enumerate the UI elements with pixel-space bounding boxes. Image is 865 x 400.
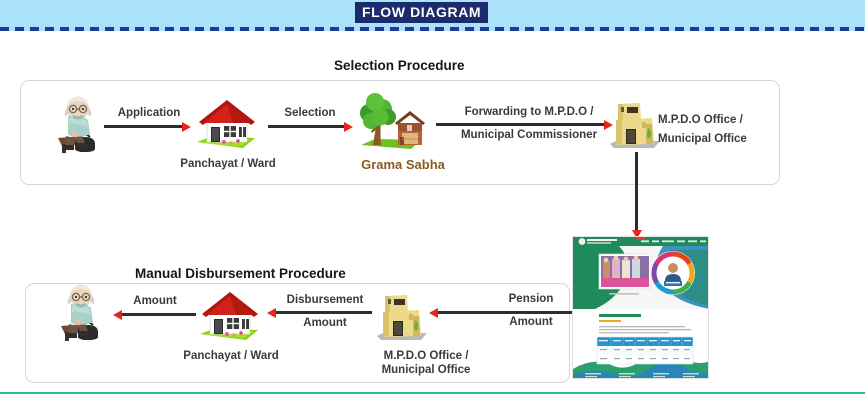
- flow-diagram-page: FLOW DIAGRAM Selection Procedure: [0, 0, 865, 400]
- header-dashed-divider: [0, 27, 865, 31]
- selection-arrow-label: Selection: [272, 106, 348, 121]
- house-icon: [193, 96, 263, 154]
- pension-arrow-label-line2: Amount: [494, 315, 568, 330]
- elderly-person-icon: [55, 284, 107, 342]
- disbursement-mpdo-office-label-line1: M.P.D.O Office /: [371, 350, 481, 363]
- selection-mpdo-office-node: [608, 98, 664, 157]
- grama-sabha-label: Grama Sabha: [353, 158, 453, 171]
- disbursement-panchayat-label: Panchayat / Ward: [181, 350, 281, 363]
- forwarding-arrow: [436, 122, 612, 127]
- selection-procedure-title: Selection Procedure: [334, 58, 465, 73]
- selection-mpdo-office-label-line1: M.P.D.O Office /: [658, 114, 778, 127]
- office-building-icon: [375, 290, 431, 344]
- selection-pensioner-node: [52, 96, 104, 159]
- forwarding-arrow-label-line2: Municipal Commissioner: [446, 128, 612, 143]
- tree-and-house-icon: [355, 93, 431, 155]
- application-arrow-label: Application: [108, 106, 190, 121]
- elderly-person-icon: [52, 96, 104, 154]
- disbursement-pensioner-node: [55, 284, 107, 347]
- house-icon: [196, 288, 266, 346]
- disbursement-procedure-title: Manual Disbursement Procedure: [135, 266, 346, 281]
- forwarding-arrow-label-line1: Forwarding to M.P.D.O /: [446, 105, 612, 120]
- amount-arrow-label: Amount: [120, 294, 190, 309]
- disbursement-arrow-label-line2: Amount: [276, 316, 374, 331]
- portal-table-icon: [573, 237, 709, 379]
- disbursement-amount-arrow: [268, 310, 372, 315]
- grama-sabha-node: [355, 93, 431, 160]
- office-building-icon: [608, 98, 664, 152]
- selection-mpdo-office-label-line2: Municipal Office: [658, 133, 778, 146]
- selection-panchayat-label: Panchayat / Ward: [178, 158, 278, 171]
- disbursement-mpdo-office-label-line2: Municipal Office: [371, 364, 481, 377]
- mpdo-to-portal-connector: [634, 152, 639, 238]
- disbursement-mpdo-office-node: [375, 290, 431, 349]
- disbursement-arrow-label-line1: Disbursement: [276, 293, 374, 308]
- pension-portal-thumbnail[interactable]: [572, 236, 709, 379]
- selection-panchayat-node: [193, 96, 263, 159]
- page-title: FLOW DIAGRAM: [355, 2, 488, 23]
- application-arrow: [104, 124, 190, 129]
- selection-arrow: [268, 124, 352, 129]
- footer-rule: [0, 392, 865, 394]
- disbursement-panchayat-node: [196, 288, 266, 351]
- amount-arrow: [114, 312, 196, 317]
- pension-arrow-label-line1: Pension: [494, 292, 568, 307]
